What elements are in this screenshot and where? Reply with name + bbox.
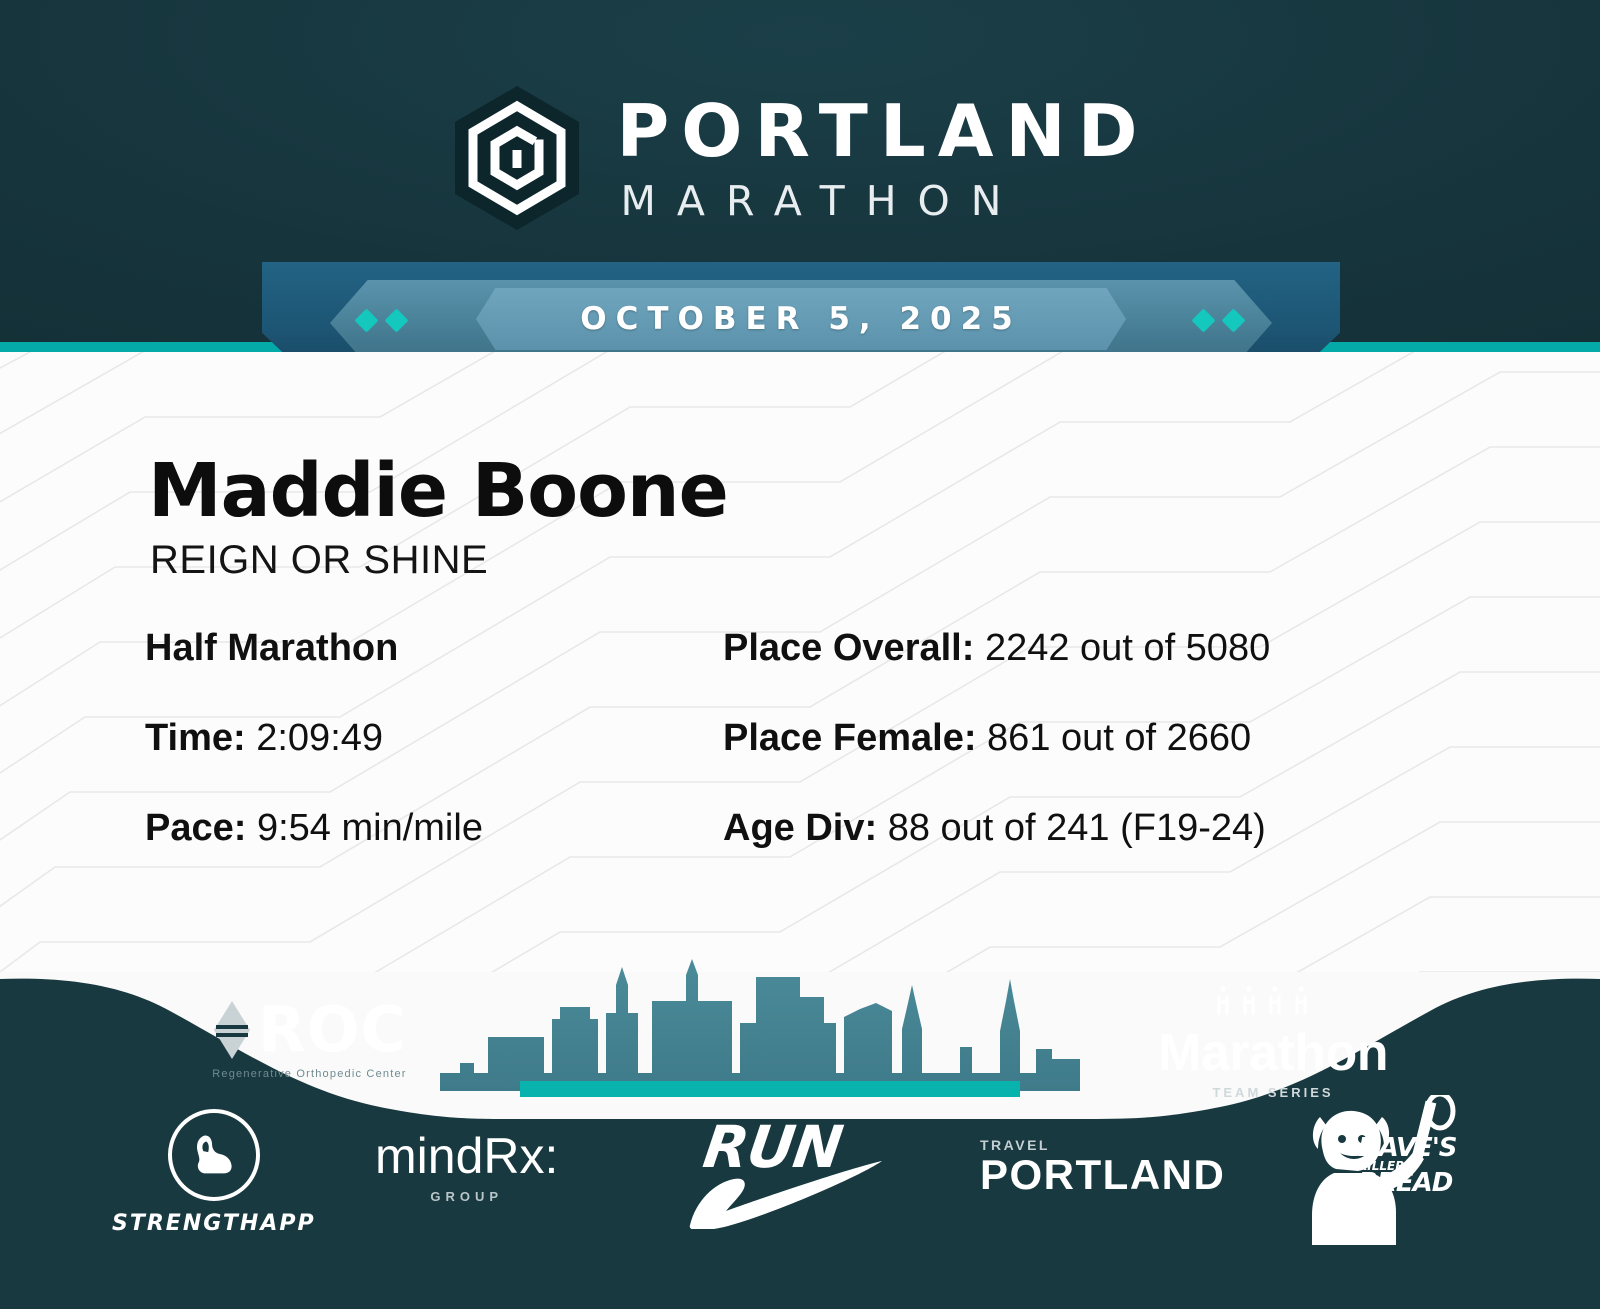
sponsor-marathon-name: Marathon [1158,1027,1388,1079]
stat-value: 88 out of 241 (F19-24) [888,807,1266,849]
stat-pace: Pace: 9:54 min/mile [145,808,705,850]
stat-age-division: Age Div: 88 out of 241 (F19-24) [705,808,1445,850]
sponsor-strengthapp[interactable]: STRENGTHAPP [112,1109,316,1236]
event-date: OCTOBER 5, 2025 [580,301,1022,337]
header-banner: PORTLAND MARATHON OCTOBER 5, 2025 [0,0,1600,360]
race-result-certificate: PORTLAND MARATHON OCTOBER 5, 2025 [0,0,1600,1309]
diamond-icon [212,999,252,1061]
athlete-team: REIGN OR SHINE [150,538,488,583]
date-banner: OCTOBER 5, 2025 [0,262,1600,360]
sponsor-roc-tagline: Regenerative Orthopedic Center [212,1068,406,1080]
stat-place-female: Place Female: 861 out of 2660 [705,718,1445,760]
hexagon-spiral-icon [451,82,583,234]
sponsor-mindrx-subtitle: GROUP [430,1189,503,1204]
stat-label: Place Overall: [723,627,974,669]
stat-label: Place Female: [723,717,976,759]
flexed-bicep-icon [168,1109,260,1201]
stat-value: 861 out of 2660 [987,717,1251,759]
sponsor-roc[interactable]: ROC Regenerative Orthopedic Center [212,999,407,1080]
stat-label: Age Div: [723,807,877,849]
date-banner-pill: OCTOBER 5, 2025 [476,288,1126,350]
brand-marathon: MARATHON [621,181,1023,222]
sponsor-travel-portland[interactable]: TRAVEL PORTLAND [980,1137,1225,1197]
sponsor-mindrx-name: mindRx: [375,1131,558,1181]
dkb-line-3: BREAD [1358,1172,1457,1196]
sponsor-daves-killer-bread-text: DAVE'S KILLER BREAD [1358,1137,1457,1196]
brand-portland: PORTLAND [617,95,1150,167]
sponsor-strengthapp-name: STRENGTHAPP [112,1211,316,1236]
athlete-name: Maddie Boone [148,448,728,534]
sponsor-marathon-team-series[interactable]: Marathon TEAM SERIES [1158,983,1388,1100]
sponsor-nike-run[interactable]: RUN [690,1107,890,1237]
stat-value: 9:54 min/mile [257,807,483,849]
sponsor-mindrx[interactable]: mindRx: GROUP [375,1131,558,1204]
diamond-icon [354,308,378,332]
nike-swoosh-icon [686,1159,886,1229]
event-wordmark: PORTLAND MARATHON [617,95,1150,222]
diamond-icon [384,308,408,332]
running-figures-icon [1213,983,1333,1025]
sponsor-footer: ROC Regenerative Orthopedic Center [0,949,1600,1309]
stat-label: Pace: [145,807,246,849]
dkb-line-1: DAVE'S [1358,1137,1457,1161]
sponsor-daves-killer-bread[interactable]: DAVE'S KILLER BREAD [1300,1095,1470,1245]
stat-label: Time: [145,717,246,759]
diamond-icon [1221,308,1245,332]
stat-time: Time: 2:09:49 [145,718,705,760]
sponsor-travel-portland-portland: PORTLAND [980,1153,1225,1197]
results-stats-grid: Half Marathon Place Overall: 2242 out of… [145,628,1445,849]
stat-value: 2242 out of 5080 [985,627,1270,669]
stat-race-distance: Half Marathon [145,628,705,670]
stat-label: Half Marathon [145,627,398,669]
sponsor-roc-name: ROC [258,999,407,1061]
event-logo: PORTLAND MARATHON [0,78,1600,238]
diamond-accents-left [358,312,405,329]
diamond-accents-right [1195,312,1242,329]
sponsor-row-secondary: STRENGTHAPP mindRx: GROUP RUN TRAVEL POR… [0,1107,1600,1257]
diamond-icon [1191,308,1215,332]
stat-place-overall: Place Overall: 2242 out of 5080 [705,628,1445,670]
stat-value: 2:09:49 [256,717,383,759]
sponsor-row-primary: ROC Regenerative Orthopedic Center [0,977,1600,1107]
